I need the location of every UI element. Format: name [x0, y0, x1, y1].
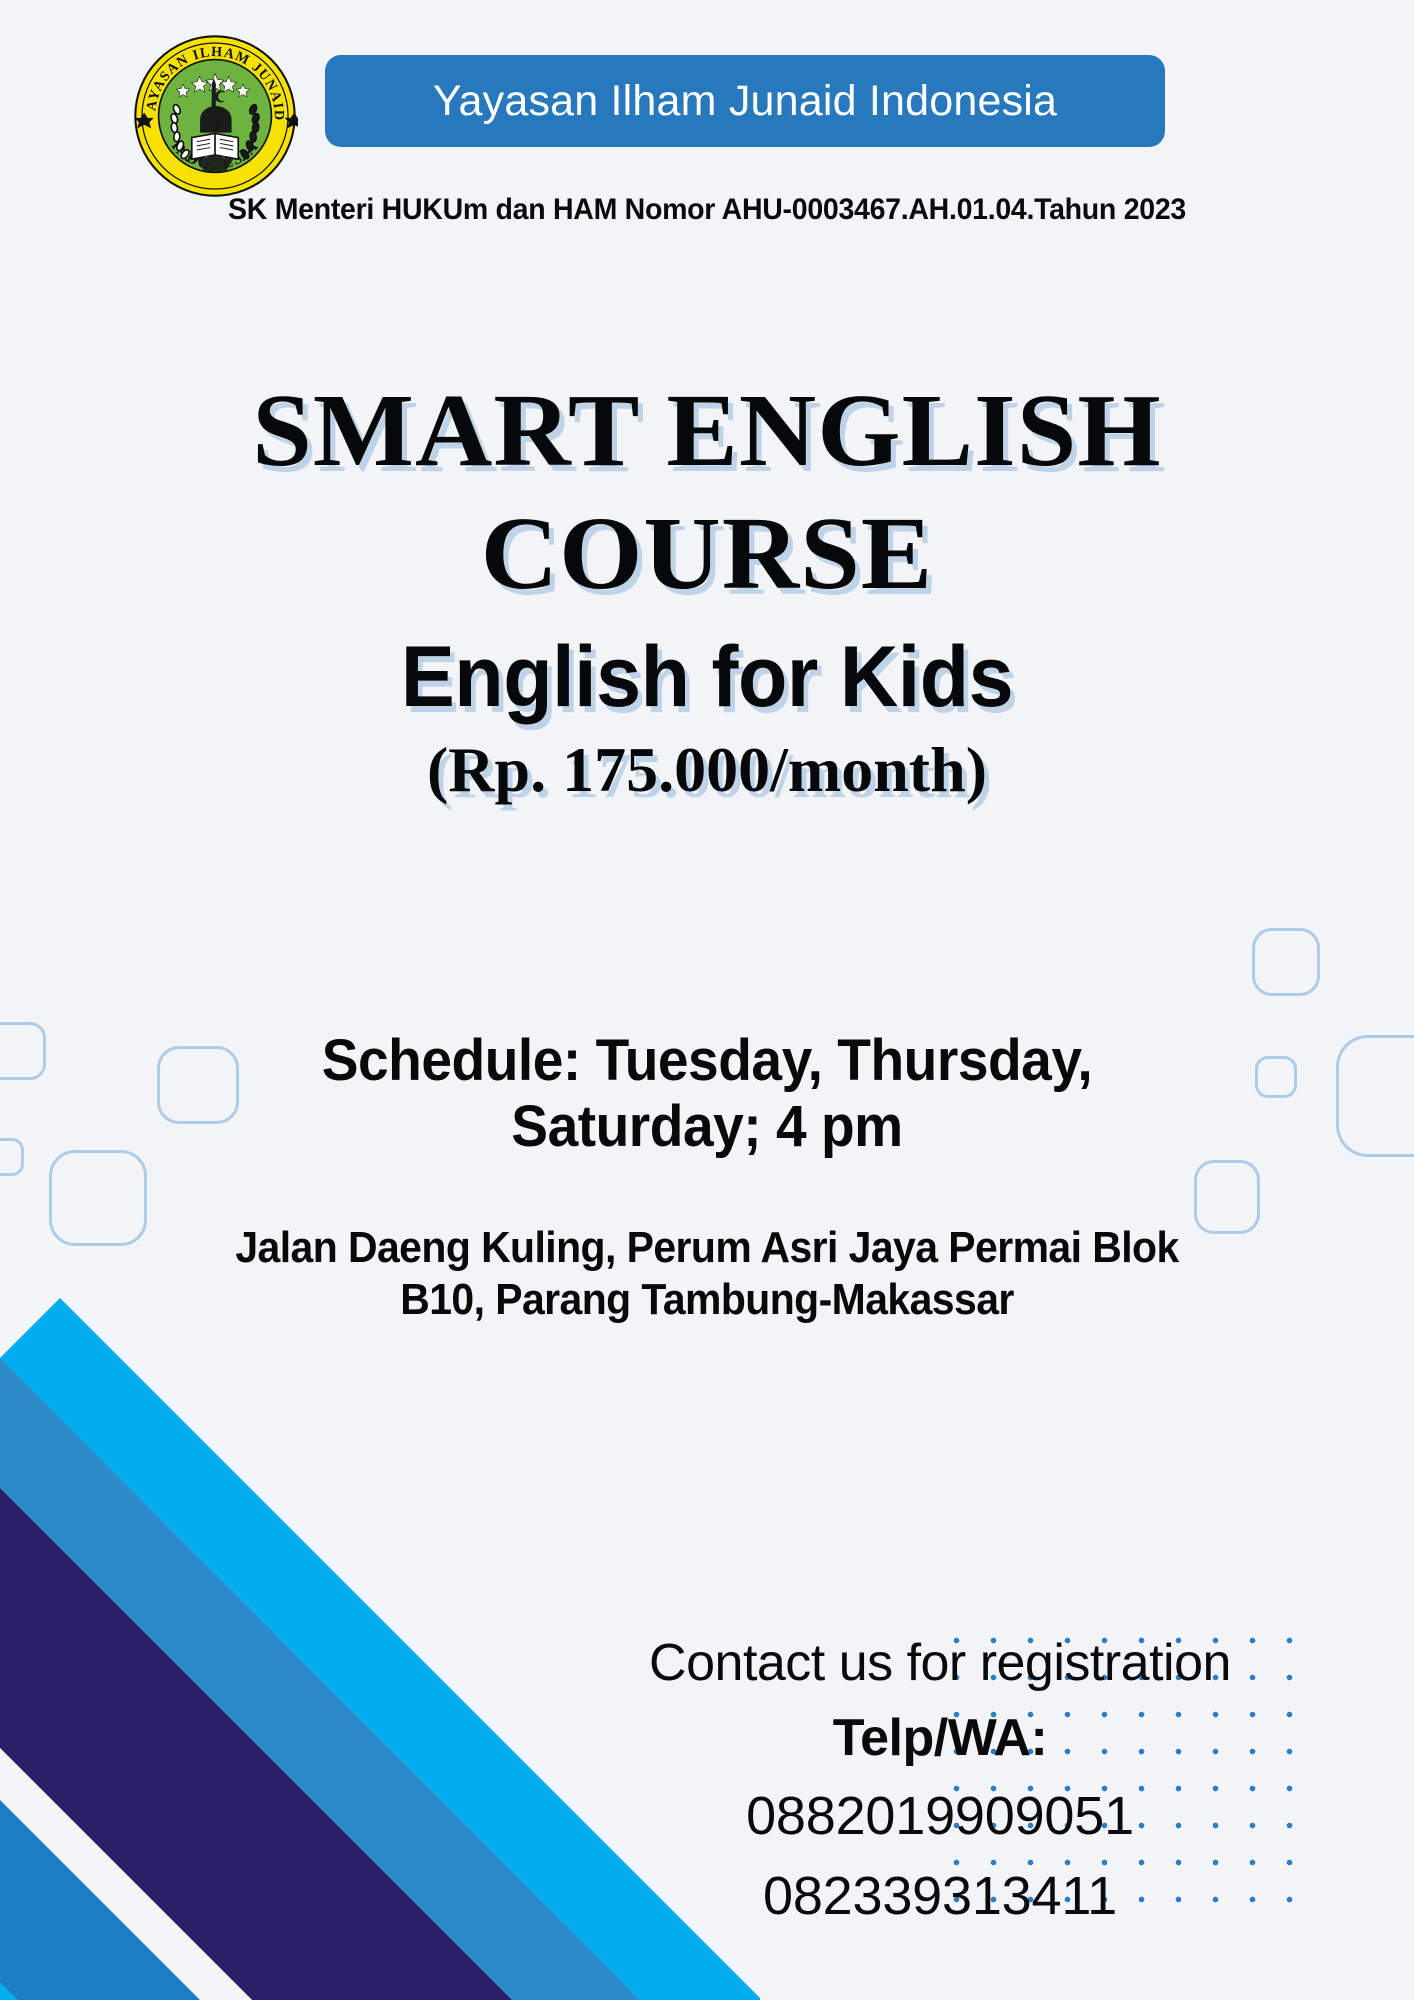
contact-phone-1[interactable]: 0882019909051: [560, 1781, 1320, 1851]
organization-name-label: Yayasan Ilham Junaid Indonesia: [433, 77, 1057, 126]
contact-heading: Contact us for registration: [560, 1630, 1320, 1697]
organization-logo: YAYASAN ILHAM JUNAID INDONESIA: [132, 33, 298, 199]
schedule-block: Schedule: Tuesday, Thursday, Saturday; 4…: [178, 1028, 1236, 1160]
schedule-line-1: Schedule: Tuesday, Thursday,: [178, 1028, 1236, 1094]
decorative-rounded-square: [0, 1022, 46, 1080]
course-price: (Rp. 175.000/month): [0, 732, 1414, 809]
address-line-1: Jalan Daeng Kuling, Perum Asri Jaya Perm…: [142, 1222, 1271, 1274]
course-title-line-1: SMART ENGLISH: [0, 370, 1414, 493]
schedule-line-2: Saturday; 4 pm: [178, 1094, 1236, 1160]
decorative-rounded-square: [1336, 1035, 1414, 1157]
registration-number-line: SK Menteri HUKUm dan HAM Nomor AHU-00034…: [35, 193, 1378, 227]
decorative-rounded-square: [1252, 928, 1320, 996]
contact-channel-label: Telp/WA:: [560, 1705, 1320, 1772]
organization-name-banner: Yayasan Ilham Junaid Indonesia: [325, 55, 1165, 147]
course-subtitle: English for Kids: [42, 629, 1371, 725]
decorative-rounded-square: [49, 1150, 147, 1246]
address-block: Jalan Daeng Kuling, Perum Asri Jaya Perm…: [142, 1222, 1271, 1326]
contact-block: Contact us for registration Telp/WA: 088…: [560, 1630, 1320, 1931]
course-title-line-2: COURSE: [0, 493, 1414, 616]
yayasan-ilham-junaid-logo-icon: YAYASAN ILHAM JUNAID INDONESIA: [132, 33, 298, 199]
poster-header: YAYASAN ILHAM JUNAID INDONESIA: [0, 0, 1414, 250]
contact-phone-2[interactable]: 082339313411: [560, 1861, 1320, 1931]
title-block: SMART ENGLISH COURSE English for Kids (R…: [0, 370, 1414, 809]
decorative-rounded-square: [0, 1138, 24, 1176]
address-line-2: B10, Parang Tambung-Makassar: [142, 1274, 1271, 1326]
decorative-rounded-square: [1255, 1056, 1297, 1098]
poster-canvas: YAYASAN ILHAM JUNAID INDONESIA: [0, 0, 1414, 2000]
